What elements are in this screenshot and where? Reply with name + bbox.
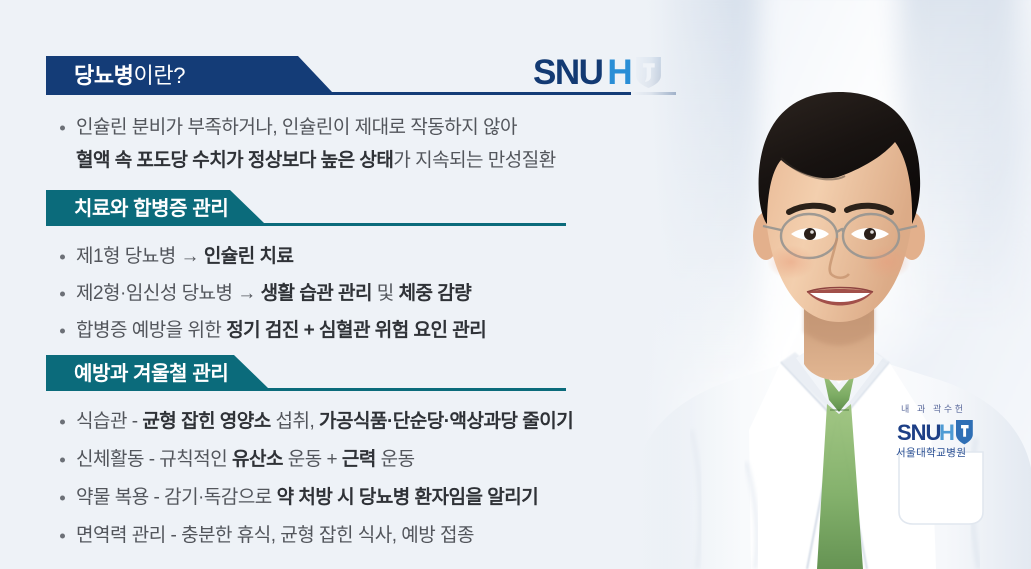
section-header-2: 치료와 합병증 관리 <box>46 190 264 223</box>
list-item-continuation: 혈액 속 포도당 수치가 정상보다 높은 상태가 지속되는 만성질환 <box>54 144 556 178</box>
section-header-2-text: 치료와 합병증 관리 <box>46 192 228 221</box>
list-item: 약물 복용 - 감기·독감으로 약 처방 시 당뇨병 환자임을 알리기 <box>54 479 573 517</box>
doctor-photo: 내 과 곽수헌 SNU H 서울대학교병원 <box>631 0 1031 569</box>
bullet-text: 식습관 - <box>76 411 142 432</box>
bullet-text: 약물 복용 - 감기·독감으로 <box>76 487 277 508</box>
bullet-emphasis: 근력 <box>342 449 376 470</box>
section-header-1: 당뇨병이란? <box>46 56 332 92</box>
coat-logo-sub: 서울대학교병원 <box>896 447 966 459</box>
coat-logo-h: H <box>939 420 954 445</box>
bullet-text: 운동 <box>376 449 415 470</box>
list-item: 제1형 당뇨병 → 인슐린 치료 <box>54 238 486 275</box>
infographic-card: 내 과 곽수헌 SNU H 서울대학교병원 SNUH <box>0 0 1031 569</box>
bullet-text: 인슐린 분비가 부족하거나, 인슐린이 제대로 작동하지 않아 <box>76 117 517 138</box>
bullet-text: 가 지속되는 만성질환 <box>393 150 555 171</box>
bullet-text: 운동 + <box>283 449 342 470</box>
snuh-logo-h: H <box>607 55 631 90</box>
bullet-emphasis: 체중 감량 <box>399 283 472 304</box>
list-item: 제2형·임신성 당뇨병 → 생활 습관 관리 및 체중 감량 <box>54 275 486 312</box>
bullet-text: 제2형·임신성 당뇨병 → <box>76 283 261 304</box>
section-rule-1 <box>46 92 676 95</box>
bullet-emphasis: 유산소 <box>232 449 283 470</box>
bullet-emphasis: 가공식품·단순당·액상과당 줄이기 <box>319 411 573 432</box>
bullet-text: 섭취, <box>271 411 319 432</box>
section-header-1-text: 당뇨병이란? <box>46 58 185 90</box>
snuh-logo-snu: SNU <box>533 55 602 90</box>
bullet-emphasis: 정기 검진 + 심혈관 위험 요인 관리 <box>226 320 486 341</box>
list-item: 인슐린 분비가 부족하거나, 인슐린이 제대로 작동하지 않아 <box>54 112 556 144</box>
section-header-1-strong: 당뇨병 <box>74 63 134 88</box>
coat-embroidery: 내 과 곽수헌 SNU H 서울대학교병원 <box>896 403 973 459</box>
list-item: 면역력 관리 - 충분한 휴식, 균형 잡힌 식사, 예방 접종 <box>54 517 573 555</box>
head <box>759 92 921 322</box>
section-rule-3 <box>46 388 566 391</box>
bullet-text: 면역력 관리 - 충분한 휴식, 균형 잡힌 식사, 예방 접종 <box>76 525 474 546</box>
bullet-emphasis: 인슐린 치료 <box>204 246 294 267</box>
bullet-emphasis: 혈액 속 포도당 수치가 정상보다 높은 상태 <box>76 150 393 171</box>
snuh-shield-icon <box>636 57 661 88</box>
list-item: 합병증 예방을 위한 정기 검진 + 심혈관 위험 요인 관리 <box>54 312 486 349</box>
coat-badge-dept: 내 과 곽수헌 <box>901 403 966 414</box>
bullet-text: 제1형 당뇨병 → <box>76 246 204 267</box>
section-header-1-light: 이란? <box>134 63 186 88</box>
section-rule-2 <box>46 223 566 226</box>
bullet-text: 합병증 예방을 위한 <box>76 320 226 341</box>
section-body-3: 식습관 - 균형 잡힌 영양소 섭취, 가공식품·단순당·액상과당 줄이기 신체… <box>54 403 573 555</box>
bullet-emphasis: 생활 습관 관리 <box>261 283 372 304</box>
list-item: 신체활동 - 규칙적인 유산소 운동 + 근력 운동 <box>54 441 573 479</box>
section-header-3-text: 예방과 겨울철 관리 <box>46 357 228 386</box>
section-header-3: 예방과 겨울철 관리 <box>46 355 268 388</box>
snuh-logo: SNUH <box>533 52 661 92</box>
doctor-illustration: 내 과 곽수헌 SNU H 서울대학교병원 <box>631 0 1031 569</box>
section-body-2: 제1형 당뇨병 → 인슐린 치료 제2형·임신성 당뇨병 → 생활 습관 관리 … <box>54 238 486 349</box>
list-item: 식습관 - 균형 잡힌 영양소 섭취, 가공식품·단순당·액상과당 줄이기 <box>54 403 573 441</box>
section-body-1: 인슐린 분비가 부족하거나, 인슐린이 제대로 작동하지 않아 혈액 속 포도당… <box>54 112 556 178</box>
bullet-text: 신체활동 - 규칙적인 <box>76 449 232 470</box>
bullet-emphasis: 균형 잡힌 영양소 <box>142 411 270 432</box>
bullet-text: 및 <box>372 283 399 304</box>
coat-pocket <box>899 452 983 524</box>
coat-logo-snu: SNU <box>897 420 941 445</box>
bullet-emphasis: 약 처방 시 당뇨병 환자임을 알리기 <box>277 487 539 508</box>
